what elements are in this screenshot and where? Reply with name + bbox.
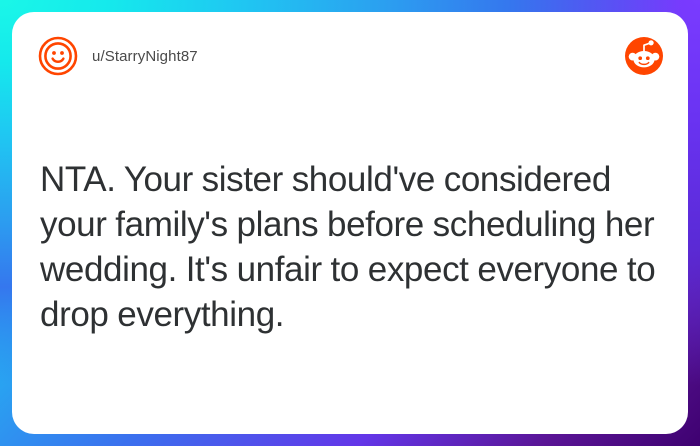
avatar [38, 36, 78, 76]
username-label: u/StarryNight87 [92, 48, 198, 65]
reddit-snoo-logo-icon [624, 36, 664, 76]
comment-body-text: NTA. Your sister should've considered yo… [40, 157, 660, 337]
screenshot-root: u/StarryNight87 NTA. Your sister should'… [0, 0, 700, 446]
card-header: u/StarryNight87 [12, 12, 688, 100]
reddit-comment-card: u/StarryNight87 NTA. Your sister should'… [12, 12, 688, 434]
